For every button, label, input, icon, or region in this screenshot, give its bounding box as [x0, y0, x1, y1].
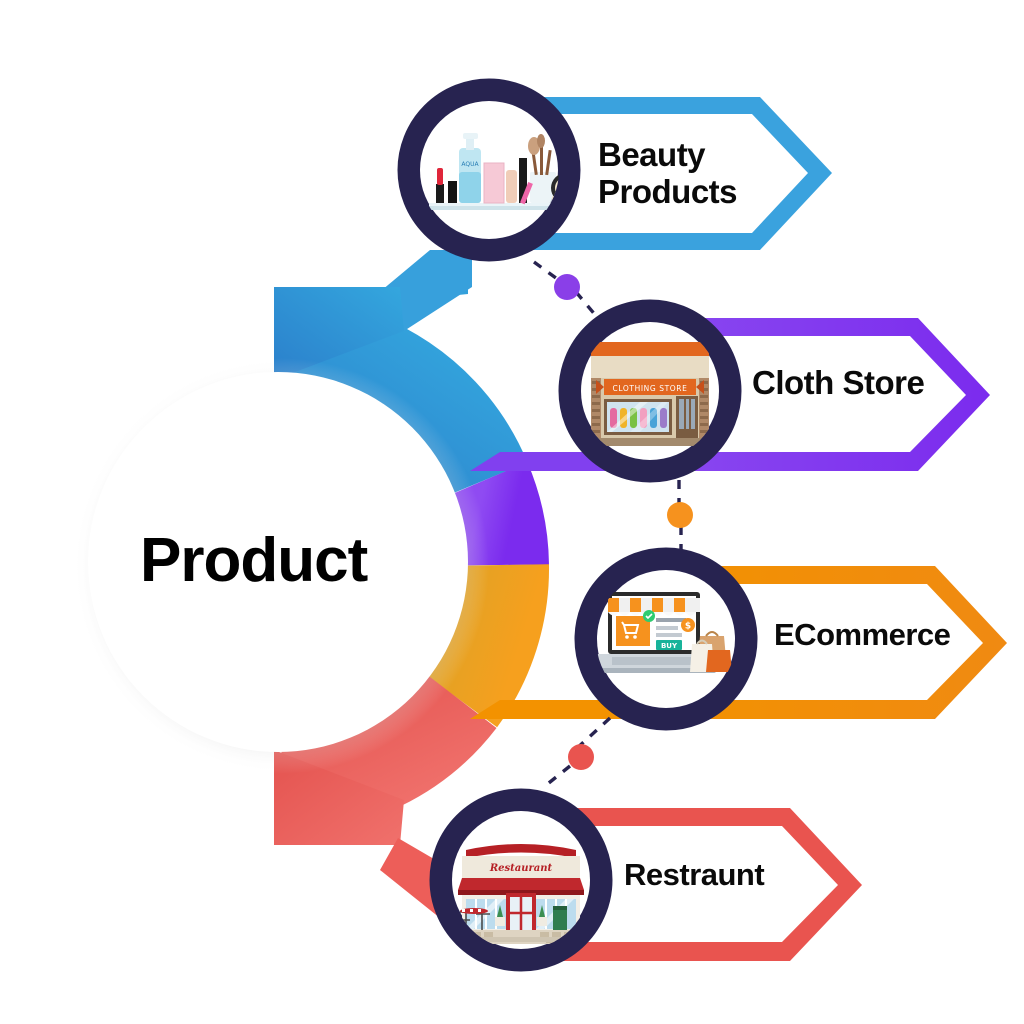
svg-text:BUY: BUY	[661, 642, 678, 650]
svg-text:$: $	[685, 622, 691, 632]
icon-circle-cloth-store[interactable]: CLOTHING STORE	[570, 311, 730, 471]
svg-text:Restaurant: Restaurant	[489, 863, 553, 874]
svg-text:AQUA: AQUA	[585, 157, 603, 164]
icon-circle-ecommerce[interactable]: $ BUY	[586, 559, 746, 719]
svg-text:CLOTHING STORE: CLOTHING STORE	[613, 384, 688, 393]
svg-text:AQUA: AQUA	[461, 161, 479, 168]
infographic-canvas: AQUA AQUA	[0, 0, 1024, 1024]
center-title: Product	[140, 525, 420, 596]
icon-circle-restraunt[interactable]: Restaurant	[441, 800, 601, 960]
restaurant-storefront-icon: Restaurant	[456, 844, 584, 944]
connector-dot-red	[568, 744, 594, 770]
connector-dot-orange	[667, 502, 693, 528]
connector-dot-purple	[554, 274, 580, 300]
infographic-artwork: AQUA AQUA	[0, 0, 1024, 1024]
clothing-store-icon: CLOTHING STORE	[586, 342, 714, 446]
